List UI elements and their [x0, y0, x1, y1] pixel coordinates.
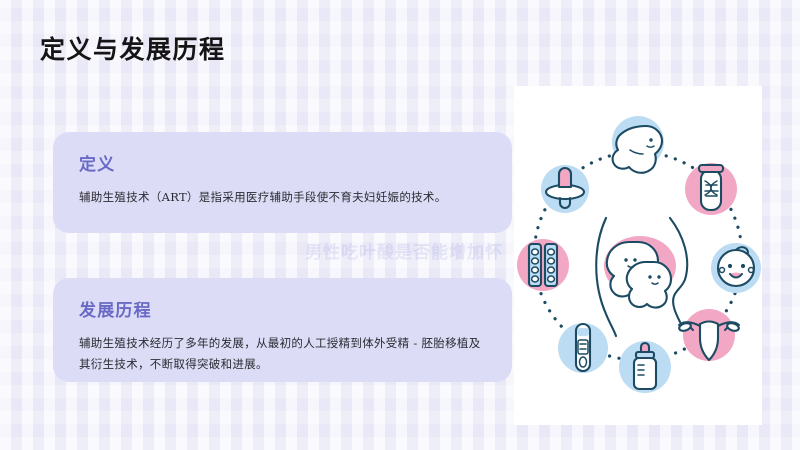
card-heading-history: 发展历程	[79, 296, 486, 321]
card-body-history: 辅助生殖技术经历了多年的发展，从最初的人工授精到体外受精 - 胚胎移植及其衍生技…	[79, 333, 486, 376]
pregnant-belly-center	[596, 218, 687, 336]
watermark-text: 男性吃叶酸是否能增加怀	[305, 238, 503, 263]
dna-test-tube-icon	[685, 163, 737, 215]
fetus-twin-b	[627, 262, 671, 308]
pacifier-icon	[541, 165, 589, 213]
card-body-definition: 辅助生殖技术（ART）是指采用医疗辅助手段使不育夫妇妊娠的技术。	[79, 187, 486, 208]
pill-blister-pack-icon	[517, 239, 569, 291]
baby-face-icon	[711, 243, 761, 293]
fertility-cycle-illustration: .ln { fill:none; stroke:#1c4b63; stroke-…	[514, 86, 762, 425]
pregnancy-test-icon	[558, 323, 608, 373]
info-card-definition: 定义 辅助生殖技术（ART）是指采用医疗辅助手段使不育夫妇妊娠的技术。	[53, 132, 512, 233]
page-title: 定义与发展历程	[40, 30, 226, 66]
baby-bottle-icon	[619, 341, 671, 393]
card-heading-definition: 定义	[79, 150, 486, 175]
info-card-history: 发展历程 辅助生殖技术经历了多年的发展，从最初的人工授精到体外受精 - 胚胎移植…	[53, 278, 512, 382]
uterus-icon	[678, 309, 740, 361]
illustration-panel: .ln { fill:none; stroke:#1c4b63; stroke-…	[514, 86, 762, 425]
fetus-icon	[612, 116, 664, 173]
slide-canvas: 定义与发展历程 定义 辅助生殖技术（ART）是指采用医疗辅助手段使不育夫妇妊娠的…	[0, 0, 800, 450]
